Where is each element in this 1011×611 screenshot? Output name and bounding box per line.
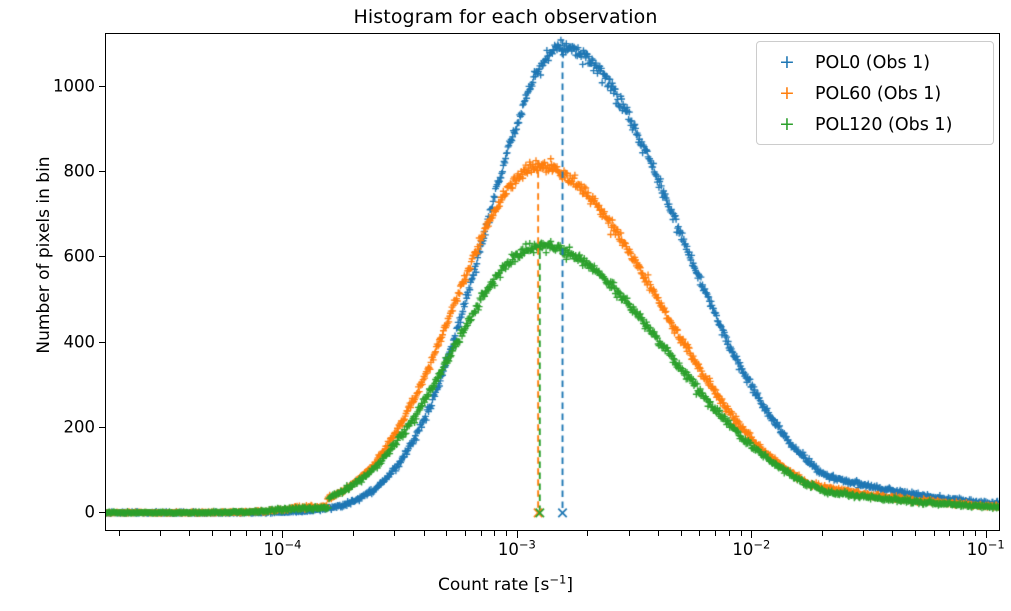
x-axis-label: Count rate [s−1] bbox=[0, 575, 1011, 595]
legend-item-label: POL120 (Obs 1) bbox=[805, 115, 952, 135]
x-axis-major-tick bbox=[282, 531, 283, 538]
x-axis-major-tick bbox=[517, 531, 518, 538]
legend[interactable]: +POL0 (Obs 1)+POL60 (Obs 1)+POL120 (Obs … bbox=[756, 41, 994, 145]
x-axis-minor-tick bbox=[506, 531, 507, 536]
x-axis-major-tick bbox=[986, 531, 987, 538]
y-axis-tick-label: 200 bbox=[43, 417, 95, 436]
x-axis-minor-tick bbox=[699, 531, 700, 536]
x-axis-minor-tick bbox=[915, 531, 916, 536]
x-axis-minor-tick bbox=[934, 531, 935, 536]
x-axis-minor-tick bbox=[465, 531, 466, 536]
x-axis-minor-tick bbox=[230, 531, 231, 536]
x-axis-minor-tick bbox=[212, 531, 213, 536]
x-axis-minor-tick bbox=[975, 531, 976, 536]
y-axis-tick-label: 1000 bbox=[43, 77, 95, 96]
x-axis-minor-tick bbox=[963, 531, 964, 536]
x-axis-minor-tick bbox=[272, 531, 273, 536]
y-axis-tick-label: 0 bbox=[43, 502, 95, 521]
legend-item-label: POL60 (Obs 1) bbox=[805, 84, 941, 104]
legend-item[interactable]: +POL0 (Obs 1) bbox=[757, 47, 993, 78]
legend-item[interactable]: +POL60 (Obs 1) bbox=[757, 78, 993, 109]
y-axis-tick-label: 600 bbox=[43, 247, 95, 266]
x-axis-minor-tick bbox=[715, 531, 716, 536]
x-axis-major-tick bbox=[751, 531, 752, 538]
legend-marker-plus-icon: + bbox=[769, 115, 805, 134]
x-axis-tick-label: 10−2 bbox=[732, 540, 770, 559]
y-axis-tick-label: 800 bbox=[43, 162, 95, 181]
x-axis-minor-tick bbox=[353, 531, 354, 536]
x-axis-minor-tick bbox=[446, 531, 447, 536]
x-axis-minor-tick bbox=[658, 531, 659, 536]
x-axis-minor-tick bbox=[394, 531, 395, 536]
legend-item[interactable]: +POL120 (Obs 1) bbox=[757, 109, 993, 140]
y-axis-tick-label: 400 bbox=[43, 332, 95, 351]
x-axis-minor-tick bbox=[822, 531, 823, 536]
x-axis-minor-tick bbox=[741, 531, 742, 536]
page-title: Histogram for each observation bbox=[0, 6, 1011, 28]
x-axis-minor-tick bbox=[863, 531, 864, 536]
figure-canvas: Histogram for each observation Number of… bbox=[0, 0, 1011, 611]
x-axis-minor-tick bbox=[629, 531, 630, 536]
legend-item-label: POL0 (Obs 1) bbox=[805, 53, 930, 73]
x-axis-minor-tick bbox=[949, 531, 950, 536]
x-axis-minor-tick bbox=[246, 531, 247, 536]
x-axis-minor-tick bbox=[892, 531, 893, 536]
legend-marker-plus-icon: + bbox=[769, 53, 805, 72]
x-axis-minor-tick bbox=[481, 531, 482, 536]
x-axis-minor-tick bbox=[424, 531, 425, 536]
x-axis-minor-tick bbox=[189, 531, 190, 536]
legend-marker-plus-icon: + bbox=[769, 84, 805, 103]
x-axis-minor-tick bbox=[494, 531, 495, 536]
x-axis-minor-tick bbox=[681, 531, 682, 536]
x-axis-tick-label: 10−4 bbox=[263, 540, 301, 559]
x-axis-minor-tick bbox=[587, 531, 588, 536]
x-axis-tick-label: 10−1 bbox=[967, 540, 1005, 559]
x-axis-minor-tick bbox=[160, 531, 161, 536]
x-axis-minor-tick bbox=[260, 531, 261, 536]
x-axis-tick-label: 10−3 bbox=[498, 540, 536, 559]
x-axis-minor-tick bbox=[119, 531, 120, 536]
x-axis-minor-tick bbox=[729, 531, 730, 536]
